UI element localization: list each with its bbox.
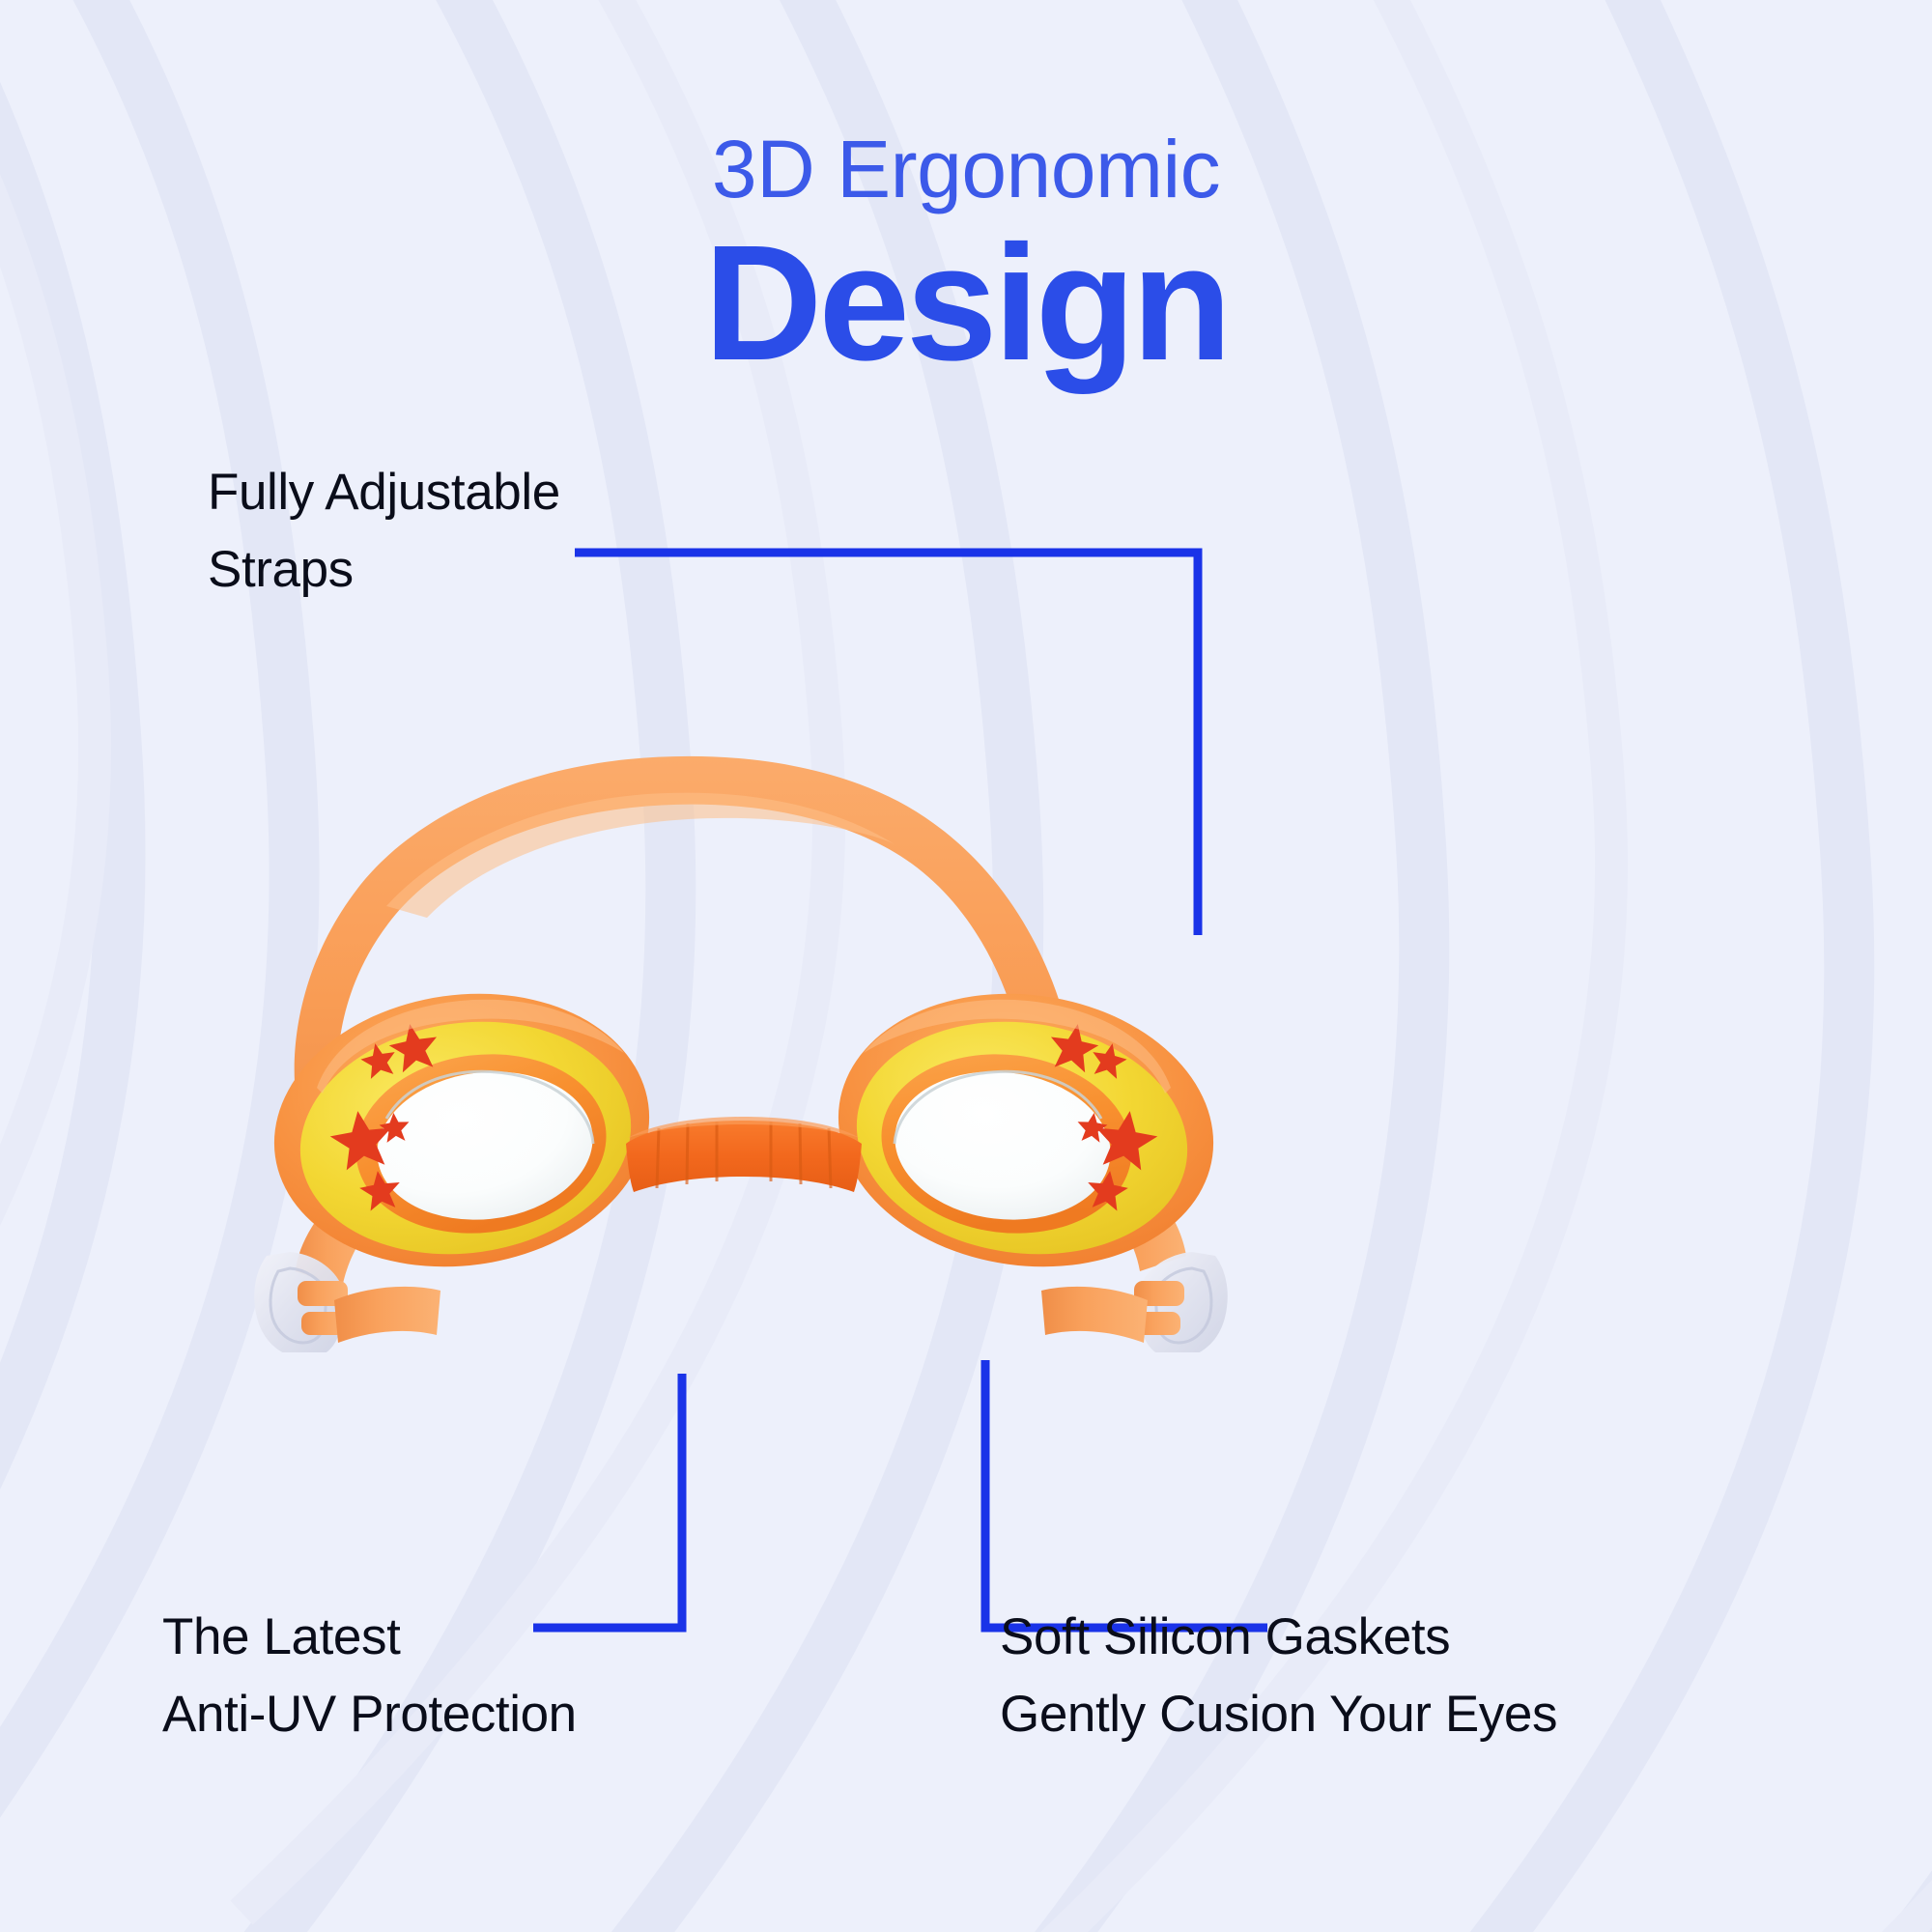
callout-label-line2: Gently Cusion Your Eyes <box>1000 1676 1557 1753</box>
leader-line-soft-silicon <box>985 1360 1267 1628</box>
callout-label-line2: Straps <box>208 531 560 609</box>
leader-line-adjustable-straps <box>575 553 1198 935</box>
leader-line-anti-uv <box>533 1374 682 1628</box>
callout-adjustable-straps: Fully Adjustable Straps <box>208 454 560 609</box>
callout-soft-silicon-gaskets: Soft Silicon Gaskets Gently Cusion Your … <box>1000 1599 1557 1753</box>
infographic-canvas: 3D Ergonomic Design <box>0 0 1932 1932</box>
callout-label-line1: The Latest <box>162 1608 400 1665</box>
callout-label-line1: Fully Adjustable <box>208 464 560 521</box>
callout-anti-uv-protection: The Latest Anti-UV Protection <box>162 1599 577 1753</box>
callout-label-line2: Anti-UV Protection <box>162 1676 577 1753</box>
callout-label-line1: Soft Silicon Gaskets <box>1000 1608 1450 1665</box>
